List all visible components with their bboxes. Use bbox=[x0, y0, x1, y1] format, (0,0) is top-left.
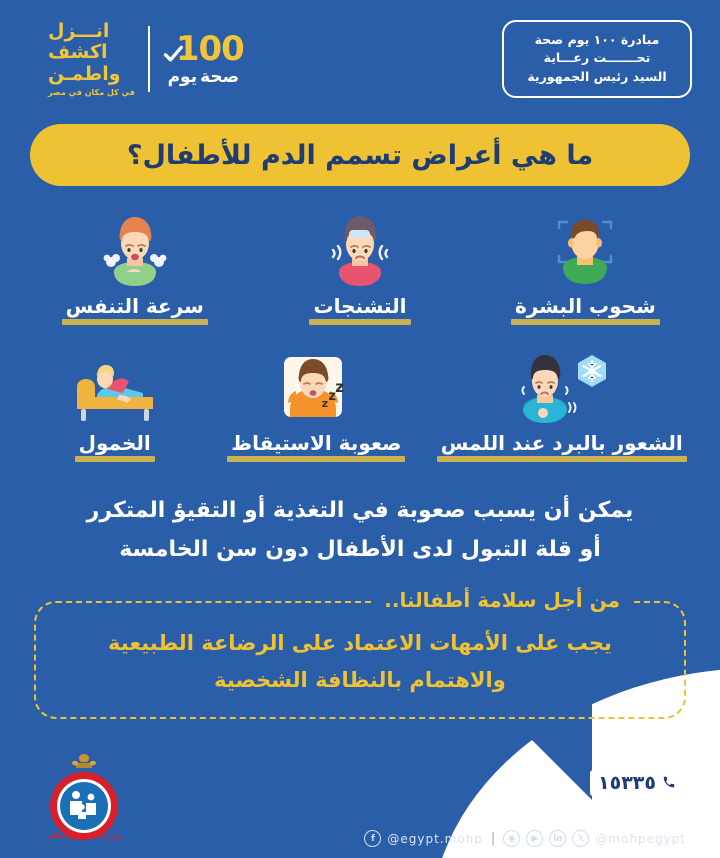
footer-contact-block: ١٥٣٣٥ www.100millionseha.eg f @egypt.moh… bbox=[364, 770, 686, 847]
youtube-icon[interactable]: ▶ bbox=[526, 830, 543, 847]
campaign-brand-logo: 100 صحة يوم انـــزل اكشف واطمـن في كل مك… bbox=[34, 21, 246, 97]
other-social-handle[interactable]: @mohpegypt bbox=[595, 832, 686, 846]
logo-word-day: يوم bbox=[168, 69, 198, 86]
symptom-label: التشنجات bbox=[313, 294, 406, 325]
x-twitter-icon[interactable]: 𝕏 bbox=[572, 830, 589, 847]
initiative-box: مبادرة ١٠٠ يوم صحة تحـــــــت رعـــاية ا… bbox=[502, 20, 692, 97]
symptom-item-lethargy: الخمول bbox=[22, 339, 207, 462]
difficulty-waking-sleeping-child-icon: z z z bbox=[266, 339, 366, 427]
hotline-number: ١٥٣٣٥ bbox=[598, 772, 656, 794]
symptom-label: شحوب البشرة bbox=[515, 294, 656, 325]
advice-box: من أجل سلامة أطفالنا.. يجب على الأمهات ا… bbox=[34, 601, 686, 719]
pale-skin-face-scan-icon bbox=[543, 202, 627, 290]
body-line-2: أو قلة التبول لدى الأطفال دون سن الخامسة bbox=[26, 531, 694, 570]
brand-slogan: انـــزل اكشف واطمـن في كل مكان في مصر bbox=[34, 21, 135, 97]
symptom-label: الخمول bbox=[79, 431, 151, 462]
title-banner: ما هي أعراض تسمم الدم للأطفال؟ bbox=[30, 124, 690, 186]
symptom-label: سرعة التنفس bbox=[66, 294, 204, 325]
body-paragraph: يمكن أن يسبب صعوبة في التغذية أو التقيؤ … bbox=[0, 492, 720, 569]
phone-icon bbox=[662, 774, 676, 793]
poster-header: مبادرة ١٠٠ يوم صحة تحـــــــت رعـــاية ا… bbox=[0, 0, 720, 118]
ministry-of-health-and-population-logo: وزارة الصحة والسكان bbox=[36, 750, 132, 846]
brand-divider bbox=[148, 26, 150, 92]
convulsions-fever-child-icon bbox=[318, 202, 402, 290]
symptom-item-pale-skin: شحوب البشرة bbox=[473, 202, 698, 325]
symptom-item-convulsions: التشنجات bbox=[247, 202, 472, 325]
advice-box-title: من أجل سلامة أطفالنا.. bbox=[372, 588, 632, 612]
social-links-row: f @egypt.mohp | ◉ ▶ in 𝕏 @mohpegypt bbox=[364, 830, 686, 847]
symptoms-row-1: شحوب البشرة bbox=[22, 202, 698, 325]
symptom-label: الشعور بالبرد عند اللمس bbox=[441, 431, 683, 462]
page-title: ما هي أعراض تسمم الدم للأطفال؟ bbox=[127, 140, 593, 171]
check-icon bbox=[163, 36, 183, 56]
svg-text:z: z bbox=[336, 378, 345, 396]
symptoms-section: شحوب البشرة bbox=[0, 186, 720, 462]
linkedin-icon[interactable]: in bbox=[549, 830, 566, 847]
initiative-line-1: مبادرة ١٠٠ يوم صحة bbox=[518, 31, 676, 49]
rapid-breathing-child-icon bbox=[93, 202, 177, 290]
logo-number: 100 bbox=[176, 32, 244, 66]
initiative-line-3: السيد رئيس الجمهورية bbox=[518, 68, 676, 86]
instagram-icon[interactable]: ◉ bbox=[503, 830, 520, 847]
website-url: www.100millionseha.eg bbox=[364, 801, 686, 819]
advice-line-1: يجب على الأمهات الاعتماد على الرضاعة الط… bbox=[54, 625, 666, 662]
advice-line-2: والاهتمام بالنظافة الشخصية bbox=[54, 662, 666, 699]
cold-to-touch-snowflake-icon bbox=[507, 339, 617, 427]
symptoms-row-2: الشعور بالبرد عند اللمس bbox=[22, 339, 698, 462]
social-separator: | bbox=[491, 831, 495, 846]
initiative-line-2: تحـــــــت رعـــاية bbox=[518, 49, 676, 67]
logo-number-group: 100 bbox=[163, 32, 244, 66]
slogan-line-1: انـــزل bbox=[48, 21, 135, 42]
svg-text:وزارة الصحة والسكان: وزارة الصحة والسكان bbox=[47, 832, 121, 840]
slogan-line-3: واطمـن bbox=[48, 64, 135, 85]
slogan-line-2: اكشف bbox=[48, 42, 135, 63]
facebook-handle[interactable]: @egypt.mohp bbox=[387, 832, 483, 846]
logo-100-days-health: 100 صحة يوم bbox=[163, 32, 246, 86]
svg-text:z: z bbox=[322, 397, 328, 410]
infographic-poster: مبادرة ١٠٠ يوم صحة تحـــــــت رعـــاية ا… bbox=[0, 0, 720, 858]
slogan-subtitle: في كل مكان في مصر bbox=[48, 88, 135, 97]
title-section: ما هي أعراض تسمم الدم للأطفال؟ bbox=[0, 118, 720, 186]
symptom-item-rapid-breathing: سرعة التنفس bbox=[22, 202, 247, 325]
symptom-item-difficulty-waking: z z z صعوبة الاستيقاظ bbox=[207, 339, 425, 462]
hotline-badge: ١٥٣٣٥ bbox=[590, 770, 686, 796]
logo-word-health: صحة bbox=[200, 69, 239, 86]
logo-words: صحة يوم bbox=[168, 69, 240, 86]
symptom-item-cold-to-touch: الشعور بالبرد عند اللمس bbox=[425, 339, 698, 462]
facebook-icon[interactable]: f bbox=[364, 830, 381, 847]
body-line-1: يمكن أن يسبب صعوبة في التغذية أو التقيؤ … bbox=[26, 492, 694, 531]
lethargy-child-on-couch-icon bbox=[67, 339, 163, 427]
symptom-label: صعوبة الاستيقاظ bbox=[231, 431, 401, 462]
